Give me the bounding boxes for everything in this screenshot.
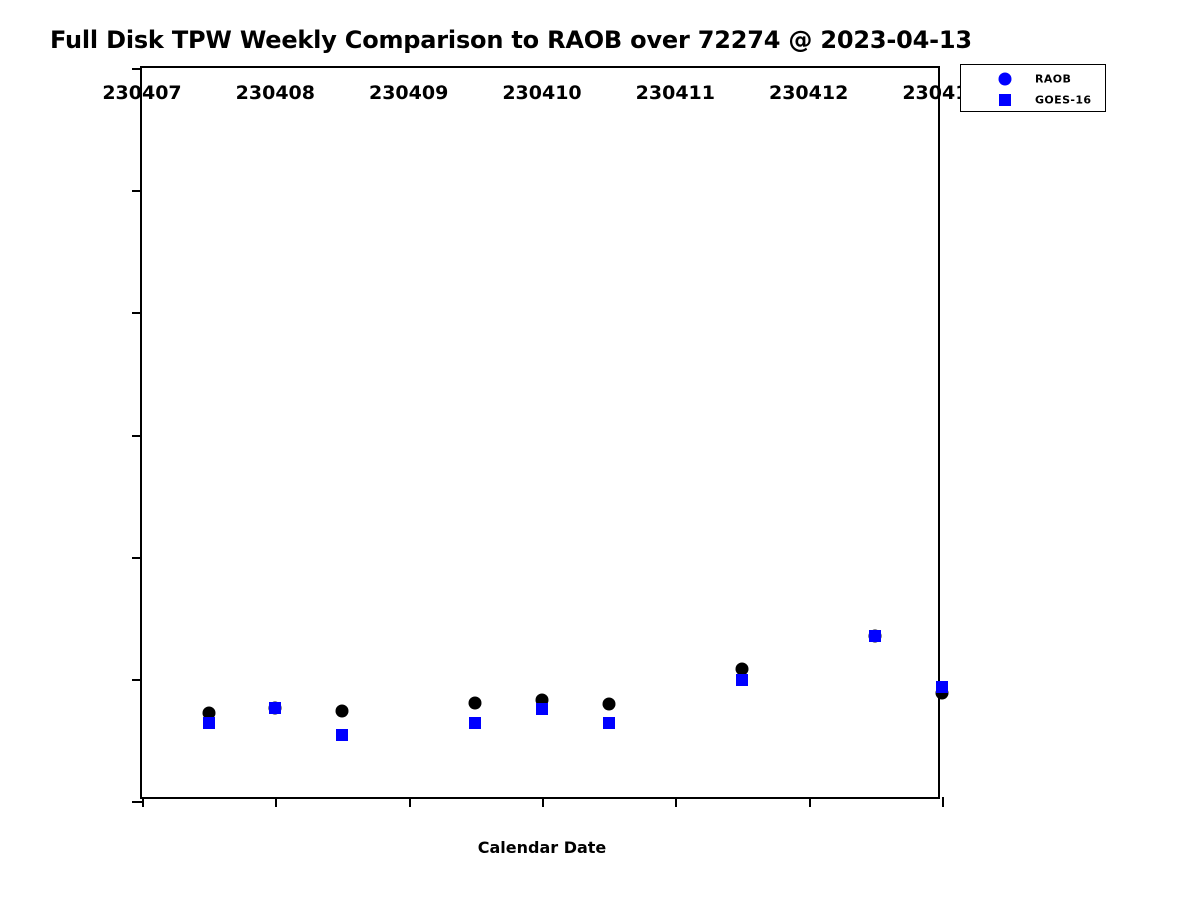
data-point-goes-16 xyxy=(469,717,481,729)
y-tick-mark xyxy=(132,190,142,192)
x-tick-mark xyxy=(542,797,544,807)
data-point-goes-16 xyxy=(736,674,748,686)
data-point-raob xyxy=(602,698,615,711)
x-tick-mark xyxy=(142,797,144,807)
y-tick-mark xyxy=(132,801,142,803)
legend-marker-circle-icon xyxy=(999,73,1012,86)
chart-legend: RAOBGOES-16 xyxy=(960,64,1106,112)
data-point-goes-16 xyxy=(269,702,281,714)
data-point-raob xyxy=(469,697,482,710)
x-tick-mark xyxy=(675,797,677,807)
x-tick-mark xyxy=(942,797,944,807)
y-tick-mark xyxy=(132,435,142,437)
data-point-goes-16 xyxy=(203,717,215,729)
legend-label: GOES-16 xyxy=(1035,94,1092,107)
x-tick-mark xyxy=(809,797,811,807)
data-point-goes-16 xyxy=(869,630,881,642)
x-axis-label: Calendar Date xyxy=(142,838,942,857)
chart-figure: Full Disk TPW Weekly Comparison to RAOB … xyxy=(0,0,1200,900)
x-tick-mark xyxy=(275,797,277,807)
data-point-goes-16 xyxy=(603,717,615,729)
legend-entry: RAOB xyxy=(961,68,1105,90)
chart-title: Full Disk TPW Weekly Comparison to RAOB … xyxy=(50,26,972,54)
data-point-goes-16 xyxy=(336,729,348,741)
y-tick-mark xyxy=(132,679,142,681)
y-tick-mark xyxy=(132,312,142,314)
legend-label: RAOB xyxy=(1035,73,1071,86)
plot-area: 0102030405060 23040723040823040923041023… xyxy=(140,66,940,799)
data-point-goes-16 xyxy=(936,681,948,693)
legend-marker-square-icon xyxy=(999,94,1011,106)
data-point-raob xyxy=(336,704,349,717)
y-tick-mark xyxy=(132,68,142,70)
legend-entry: GOES-16 xyxy=(961,89,1105,111)
x-tick-mark xyxy=(409,797,411,807)
data-point-goes-16 xyxy=(536,703,548,715)
y-tick-mark xyxy=(132,557,142,559)
